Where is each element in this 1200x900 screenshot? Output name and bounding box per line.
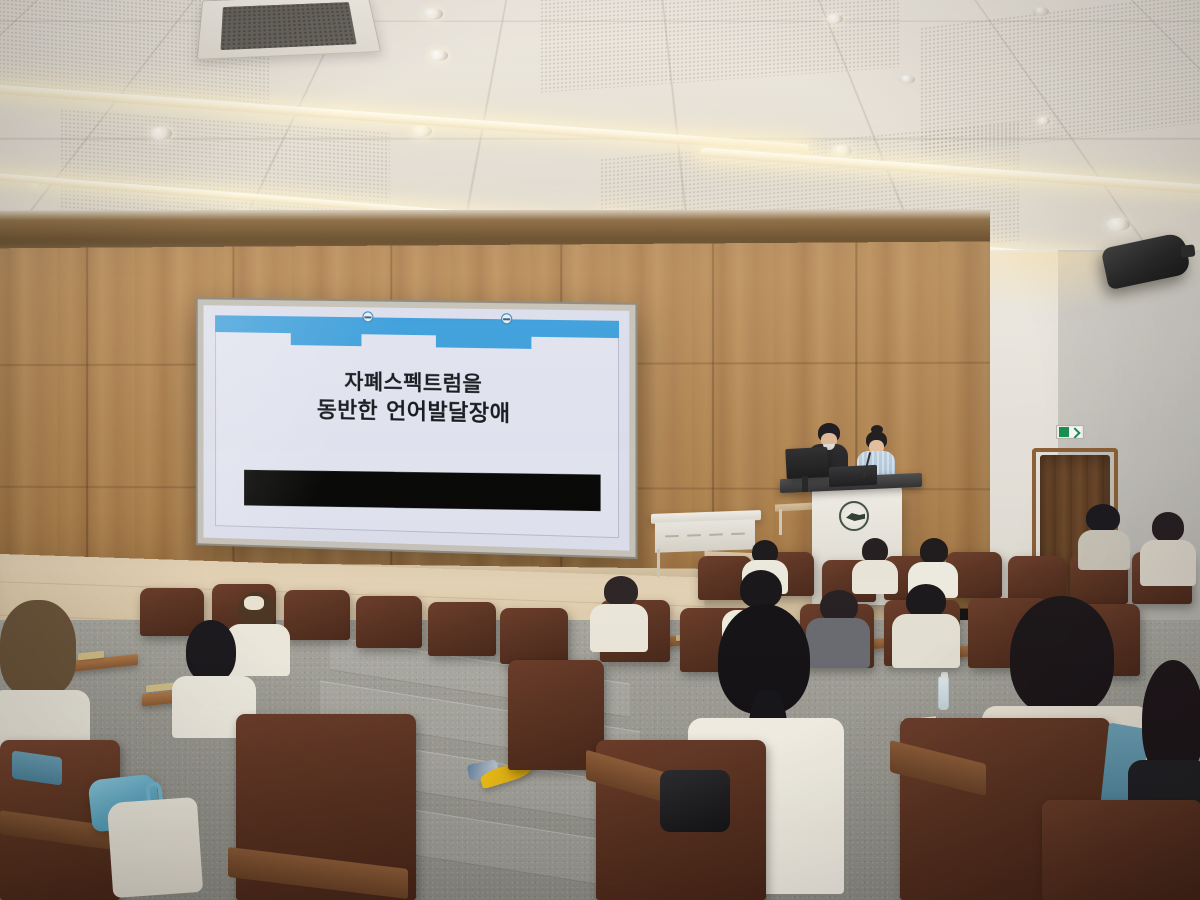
projected-slide: 자폐스펙트럼을 동반한 언어발달장애	[204, 305, 630, 550]
ceiling-downlight	[429, 50, 448, 61]
white-jacket	[107, 797, 203, 898]
redaction-bar	[244, 470, 600, 511]
podium-second-monitor	[829, 465, 877, 488]
minus-circle-icon	[501, 313, 512, 324]
projection-screen: 자폐스펙트럼을 동반한 언어발달장애	[196, 297, 638, 559]
podium-monitor	[785, 447, 829, 479]
minus-circle-icon	[362, 311, 373, 322]
dark-bag	[660, 770, 730, 832]
smoke-detector	[1033, 7, 1049, 16]
ac-vent-grille	[220, 2, 357, 51]
exit-sign-icon	[1056, 425, 1084, 439]
side-table-leg	[779, 509, 782, 535]
auditorium-seat[interactable]	[500, 608, 568, 664]
table-leg	[657, 549, 660, 577]
slide-title: 자폐스펙트럼을 동반한 언어발달장애	[204, 366, 630, 431]
ceiling-downlight	[423, 8, 443, 20]
folding-table-panel	[655, 519, 755, 552]
auditorium-seat[interactable]	[428, 602, 496, 656]
university-emblem-icon	[839, 501, 869, 531]
ceiling-downlight	[412, 125, 432, 137]
ceiling-downlight	[826, 14, 843, 24]
ceiling-downlight	[1037, 117, 1050, 125]
water-bottle	[938, 676, 949, 710]
ceiling-downlight	[150, 127, 172, 140]
auditorium-seat[interactable]	[356, 596, 422, 648]
lecture-hall-photo: 자폐스펙트럼을 동반한 언어발달장애	[0, 0, 1200, 900]
ceiling-downlight	[1106, 218, 1130, 231]
auditorium-seat[interactable]	[1042, 800, 1200, 900]
smoke-detector	[899, 75, 915, 84]
ceiling-ac-vent	[197, 0, 382, 60]
ceiling-downlight	[832, 145, 852, 157]
auditorium-seat[interactable]	[284, 590, 350, 640]
monitor-stand	[802, 476, 808, 492]
